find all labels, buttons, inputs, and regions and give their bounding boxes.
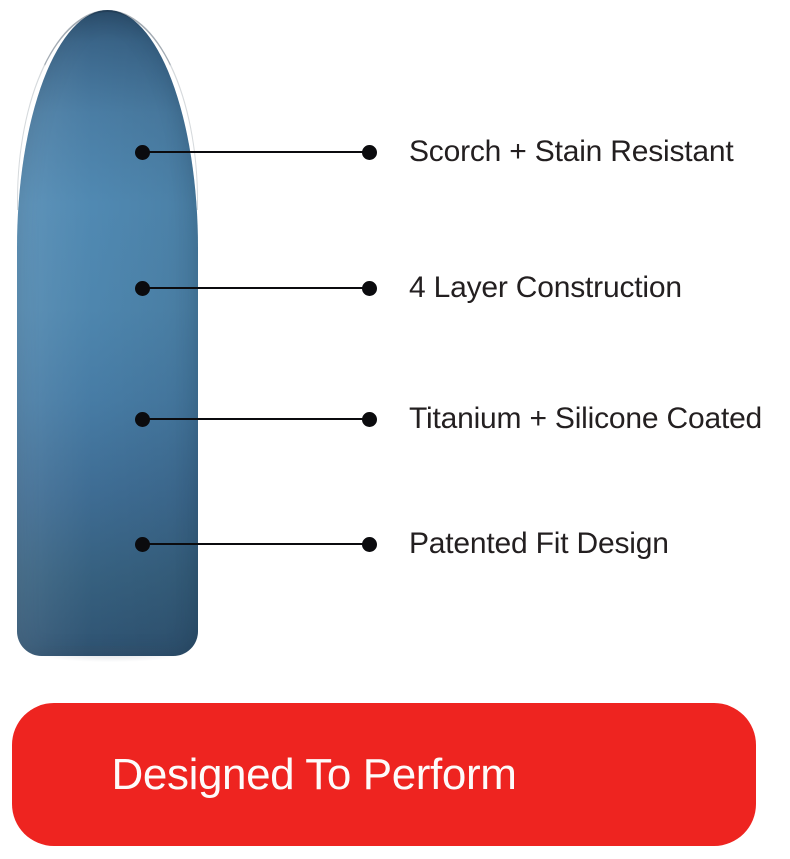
product-image-ironing-board-cover [14,6,204,656]
callout-leader-line [143,543,370,545]
callout-leader-line [143,151,370,153]
callout-dot-at-label [362,145,377,160]
callout-label-patented-fit-design: Patented Fit Design [409,523,669,565]
callout-leader-line [143,418,370,420]
callout-dot-at-label [362,537,377,552]
callout-leader-line [143,287,370,289]
callout-dot-at-label [362,281,377,296]
tagline-banner: Designed To Perform [12,703,756,846]
callout-label-scorch-stain-resistant: Scorch + Stain Resistant [409,131,734,173]
callout-label-four-layer-construction: 4 Layer Construction [409,267,682,309]
callout-label-titanium-silicone-coated: Titanium + Silicone Coated [409,398,762,440]
infographic-canvas: Scorch + Stain Resistant 4 Layer Constru… [0,0,790,859]
tagline-text: Designed To Perform [112,753,657,797]
callout-dot-at-label [362,412,377,427]
ironing-board-cover-body [17,10,198,656]
